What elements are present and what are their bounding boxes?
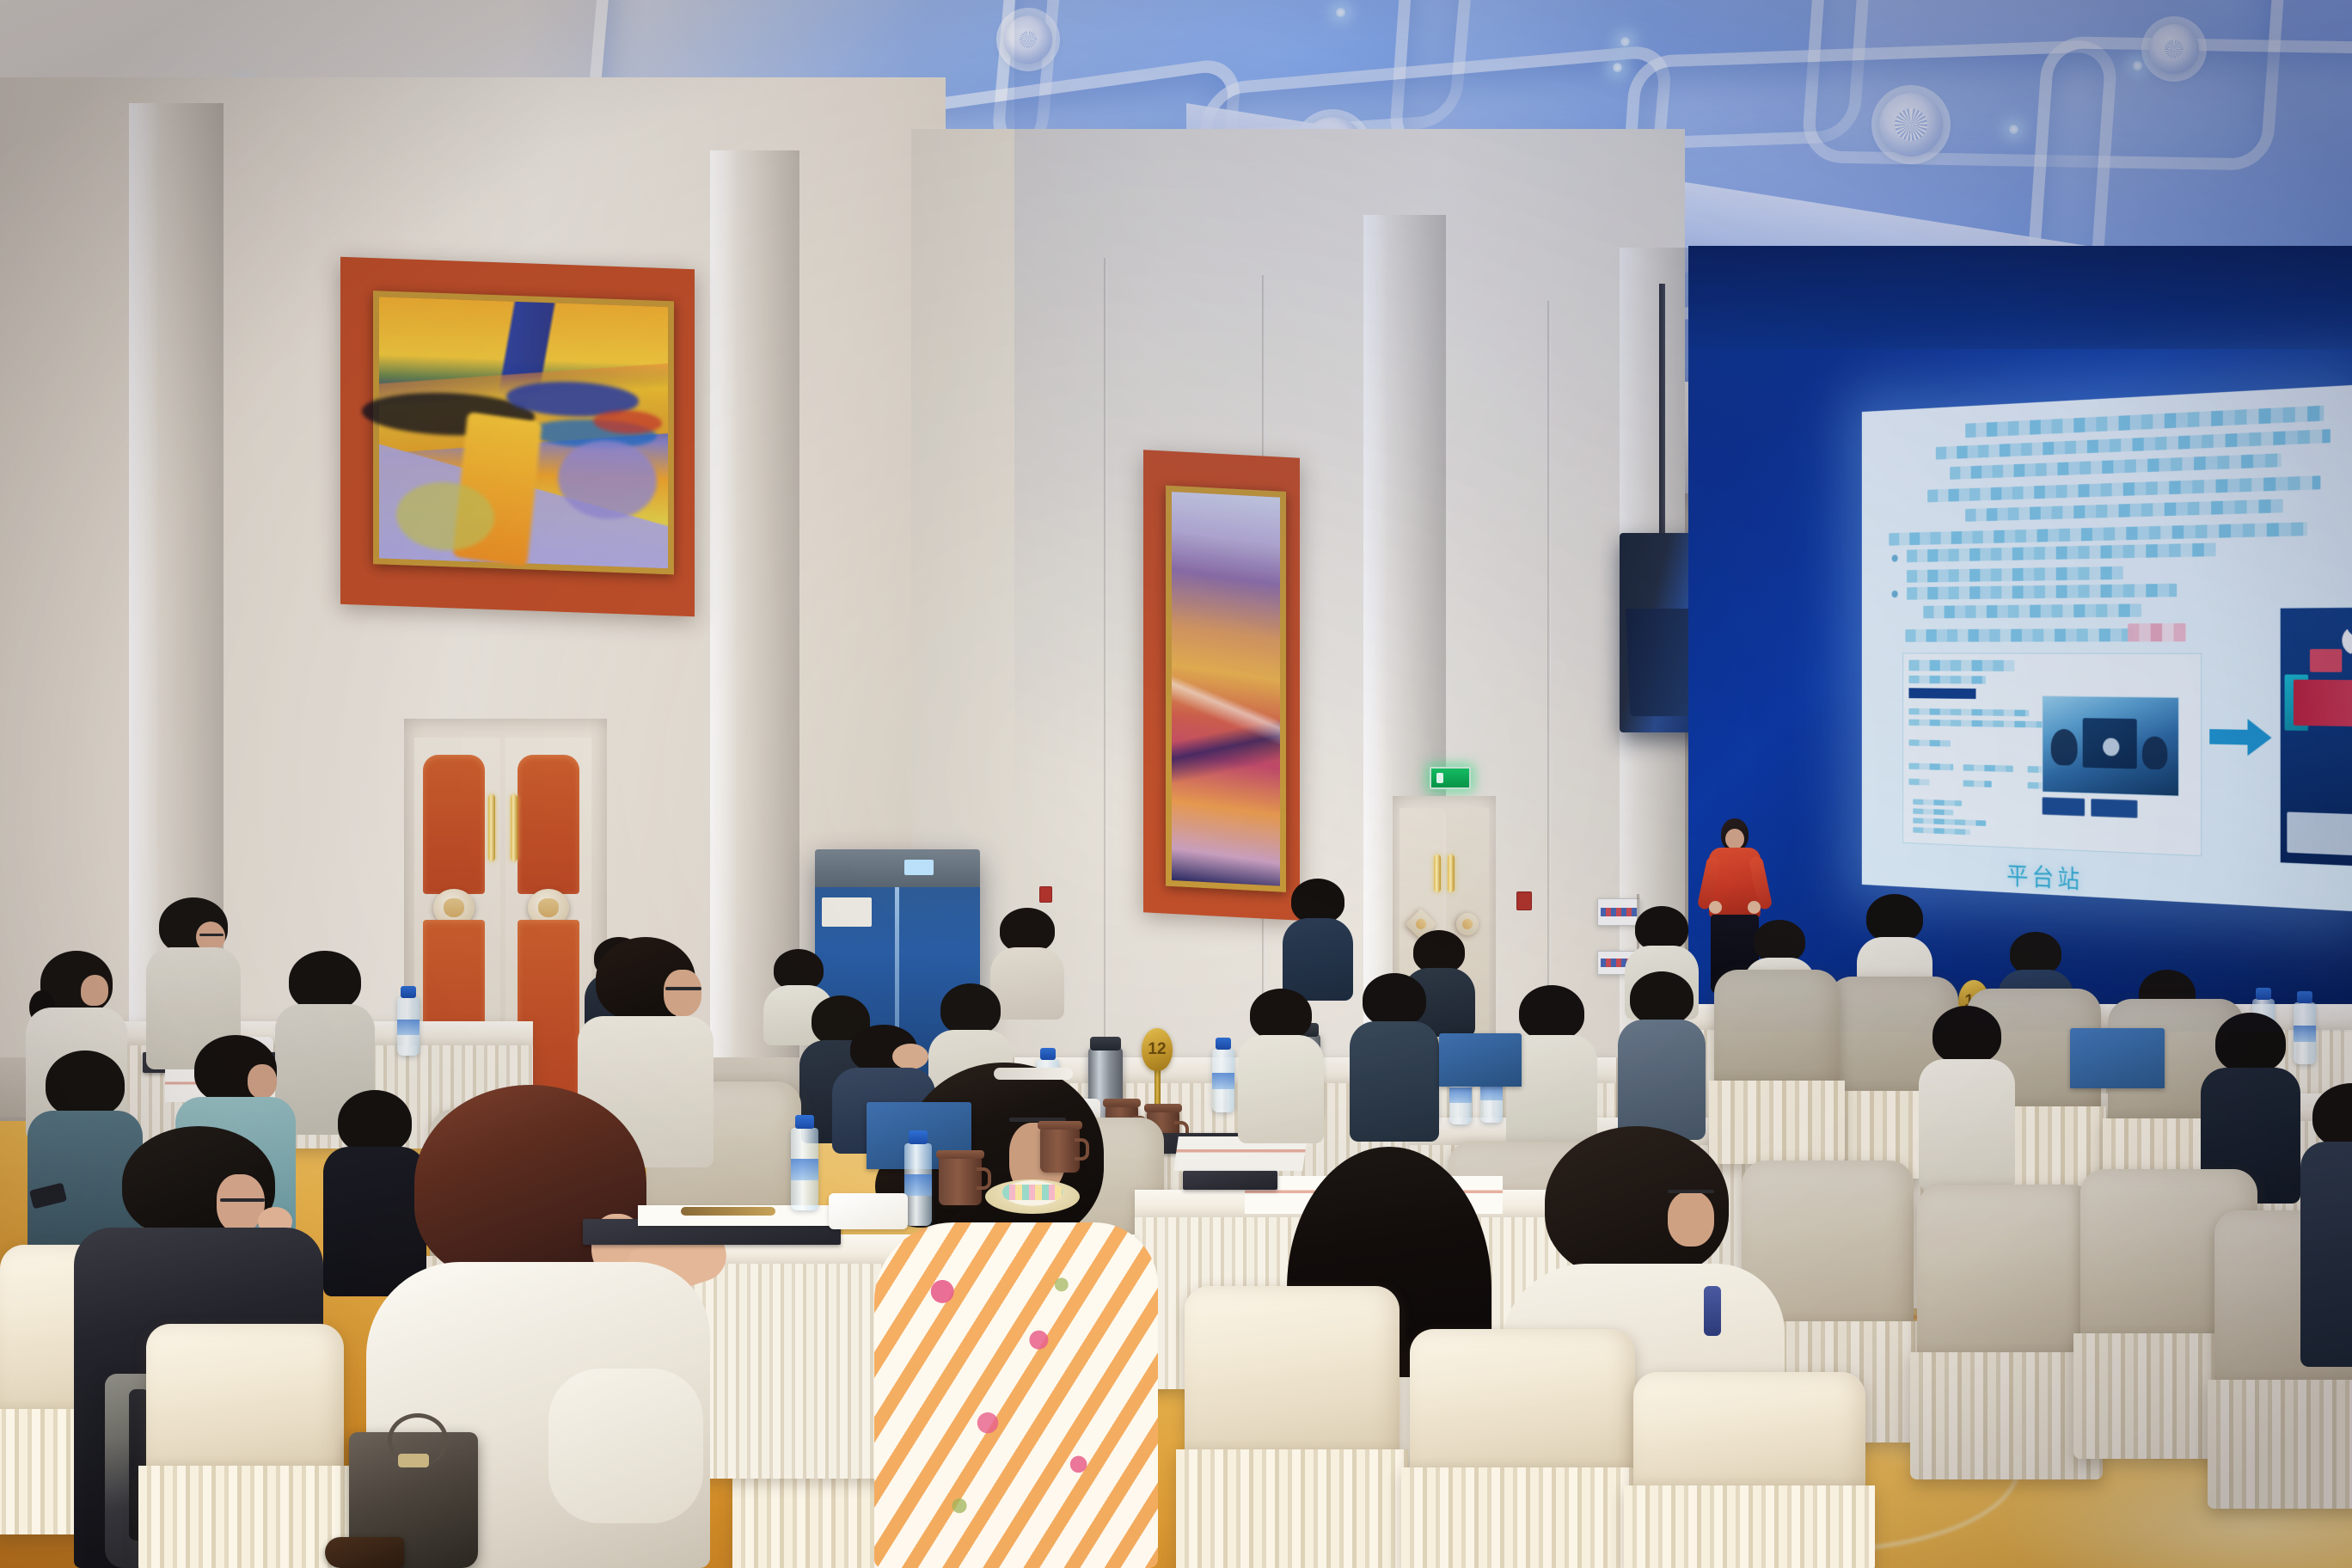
fire-alarm-call-point[interactable]: [1516, 891, 1532, 910]
door-handle[interactable]: [511, 794, 518, 861]
chair-back: [1410, 1329, 1635, 1477]
slide-bullet-marker: [1892, 591, 1898, 597]
tea-mug[interactable]: [1040, 1128, 1080, 1173]
stage-valance: [1688, 246, 2352, 349]
person-torso: [1618, 1020, 1706, 1140]
redacted-text-line: [1905, 628, 2144, 642]
art-accent-panel: [340, 257, 695, 616]
mobile-app-screenshot: [2280, 607, 2352, 868]
person-hair: [2215, 1013, 2286, 1073]
redacted-list-item: [1913, 808, 1953, 815]
projection-screen: 平台站: [1862, 385, 2352, 911]
door-panel-inlay: [423, 755, 485, 894]
bottle-cap: [1040, 1048, 1056, 1060]
ceiling-downlight: [1335, 7, 1346, 18]
person-torso: [1919, 1059, 2015, 1190]
flask-cap: [1090, 1037, 1121, 1050]
photo-person: [2142, 737, 2167, 770]
bottle-cap: [909, 1130, 928, 1144]
laptop-lid: [2070, 1028, 2165, 1088]
laptop-lid: [1439, 1033, 1522, 1087]
cooler-label: [822, 897, 872, 927]
person-floral-blouse: [874, 1222, 1158, 1568]
bottle-cap: [401, 986, 416, 998]
person-hair: [1291, 879, 1344, 923]
water-bottle[interactable]: [904, 1143, 932, 1226]
redacted-text-line: [1950, 453, 2282, 479]
conference-hall-photo: 平台站 12: [0, 0, 2352, 1568]
paint-stroke: [558, 439, 656, 521]
redacted-stat-value: [1908, 779, 1929, 786]
painting-canvas-vertical: [1172, 492, 1280, 886]
app-bottom-card: [2287, 812, 2352, 856]
person-face: [81, 975, 108, 1006]
person-hair: [46, 1050, 125, 1118]
presenter-face: [1725, 829, 1744, 849]
slide-screenshot-card: [1902, 652, 2202, 856]
bottle-cap: [2297, 991, 2312, 1003]
bottle-label: [904, 1174, 932, 1196]
redacted-stat-label: [1908, 763, 1953, 771]
photo-play-indicator: [2103, 738, 2119, 756]
door-handle[interactable]: [488, 794, 495, 861]
fire-alarm-call-point[interactable]: [1039, 886, 1052, 903]
cooler-top-cap: [815, 849, 980, 887]
person-torso: [1350, 1021, 1439, 1142]
water-bottle[interactable]: [1212, 1049, 1234, 1112]
person-hair: [289, 951, 361, 1011]
chair-skirt: [1624, 1485, 1875, 1568]
wall-pilaster-highlight: [710, 150, 736, 1122]
ceiling-downlight: [1620, 36, 1631, 47]
slide-bullet-marker: [1892, 554, 1898, 561]
person-hair: [1250, 989, 1312, 1040]
ceiling-downlight: [2132, 60, 2143, 71]
chair-skirt: [2208, 1380, 2352, 1509]
audience-member: [1618, 971, 1706, 1140]
photo-person: [2051, 729, 2078, 766]
presenter-hand-left: [1709, 901, 1722, 914]
person-hair: [1363, 973, 1426, 1026]
slide-caption: 平台站: [2006, 855, 2083, 895]
pen[interactable]: [681, 1207, 775, 1216]
bottle-label: [1480, 1084, 1503, 1100]
meeting-room-photo: [2043, 695, 2179, 796]
bottle-cap: [2256, 988, 2271, 1000]
wifi-icon: [2343, 626, 2352, 655]
audience-member-edge: [2300, 1083, 2352, 1367]
redacted-bullet-text: [1907, 584, 2177, 600]
person-hair: [1932, 1006, 2001, 1064]
mug-handle: [1075, 1138, 1089, 1161]
chair-back: [1714, 970, 1840, 1088]
person-hair: [940, 983, 1001, 1035]
painting-canvas-landscape: [379, 297, 668, 568]
person-hair: [1754, 920, 1805, 963]
ceiling-rosette: [1004, 15, 1052, 64]
redacted-card-title: [1908, 660, 2014, 671]
redacted-stat-value: [1963, 781, 1992, 787]
person-face: [1668, 1191, 1714, 1246]
ceiling-rosette: [2149, 24, 2199, 74]
app-red-banner: [2294, 680, 2352, 727]
presenter-hand-right: [1748, 901, 1761, 914]
bottle-label: [397, 1020, 420, 1035]
door-handle[interactable]: [1448, 854, 1455, 892]
redacted-card-body: [1908, 739, 1950, 746]
bottle-label: [1449, 1087, 1472, 1103]
candy-pieces: [1002, 1185, 1063, 1200]
audience-member: [1238, 989, 1324, 1143]
audience-member: [1283, 879, 1353, 1001]
table-number-value: 12: [1148, 1040, 1166, 1059]
chair-skirt: [1401, 1467, 1645, 1568]
water-bottle[interactable]: [397, 997, 420, 1056]
chair-back: [146, 1324, 344, 1475]
redacted-stat-label: [1963, 764, 2013, 772]
chair-skirt: [1176, 1449, 1408, 1568]
audience-member: [1350, 973, 1439, 1142]
eyeglasses: [1668, 1190, 1714, 1193]
framed-painting-vertical: [1166, 486, 1286, 892]
folded-napkin: [829, 1193, 908, 1229]
redacted-list-item: [1913, 799, 1962, 805]
shoe: [325, 1537, 404, 1568]
person-hair: [1413, 930, 1465, 973]
person-hair: [1635, 906, 1688, 951]
handbag-clasp: [398, 1454, 429, 1467]
water-bottle[interactable]: [791, 1128, 818, 1210]
redacted-card-body: [1908, 708, 2029, 716]
person-torso: [1238, 1035, 1324, 1143]
open-laptop[interactable]: [2070, 1028, 2165, 1088]
redacted-bullet-text: [1907, 543, 2215, 563]
person-hair: [2312, 1083, 2352, 1148]
audience-member: [1919, 1006, 2015, 1190]
redacted-list-item: [1913, 818, 1986, 826]
redacted-text-line: [1927, 475, 2320, 502]
person-face: [664, 970, 701, 1016]
chair-back: [1917, 1185, 2096, 1363]
person-hair: [1866, 894, 1923, 942]
banquet-chair[interactable]: [1633, 1372, 1865, 1568]
bottle-label: [791, 1159, 818, 1180]
person-sleeve: [548, 1369, 703, 1523]
bottle-cap: [1216, 1038, 1231, 1050]
person-hair: [1519, 985, 1584, 1040]
person-torso: [2300, 1142, 2352, 1367]
banquet-chair[interactable]: [1917, 1185, 2096, 1473]
mug-lid: [936, 1150, 984, 1159]
redacted-text-line: [1889, 522, 2307, 545]
bottle-cap: [795, 1115, 814, 1129]
card-tag-chip: [1908, 688, 1975, 699]
banquet-chair[interactable]: [146, 1324, 344, 1568]
lanyard: [1704, 1286, 1721, 1336]
person-hair: [2010, 932, 2061, 975]
speaker-suspension-rod: [1659, 284, 1665, 542]
mug-lid: [1038, 1121, 1082, 1130]
banquet-chair[interactable]: [1410, 1329, 1635, 1568]
eyeglasses: [199, 934, 224, 936]
hair-clip: [994, 1068, 1073, 1080]
redacted-card-meta: [1908, 676, 1986, 684]
eyeglasses: [665, 987, 701, 990]
person-hair: [774, 949, 824, 990]
exit-sign: [1430, 767, 1471, 789]
redacted-card-body: [1908, 720, 2042, 728]
ceiling-downlight: [1612, 62, 1623, 73]
redacted-list-item: [1913, 827, 1970, 835]
person-hair: [1630, 971, 1694, 1025]
banquet-chair[interactable]: [1185, 1286, 1400, 1568]
person-hair: [1000, 908, 1055, 952]
redacted-bullet-text: [1907, 567, 2123, 583]
slide-button-primary: [2043, 797, 2086, 816]
ceiling-downlight: [2008, 124, 2019, 135]
person-face: [248, 1064, 277, 1099]
bottle-label: [1212, 1073, 1234, 1089]
redacted-bullet-text: [1923, 603, 2141, 618]
app-pink-tag: [2310, 649, 2342, 672]
mug-handle: [977, 1167, 991, 1190]
art-accent-panel: [1143, 450, 1300, 921]
door-panel-inlay: [518, 755, 579, 894]
redacted-text-line: [1965, 499, 2283, 522]
door-handle[interactable]: [1434, 854, 1441, 892]
blue-right-arrow-icon: [2209, 719, 2271, 756]
projected-slide: 平台站: [1862, 385, 2352, 911]
framed-painting-landscape: [373, 291, 674, 574]
eyeglasses: [220, 1198, 265, 1202]
cooler-display-badge: [904, 860, 934, 875]
tea-mug[interactable]: [939, 1157, 982, 1205]
chair-back: [1633, 1372, 1865, 1493]
redacted-highlight: [2128, 623, 2186, 641]
chair-skirt: [138, 1466, 352, 1568]
slide-button-secondary: [2091, 799, 2137, 818]
ceiling-rosette: [1879, 93, 1943, 156]
wall-reveal-line: [1104, 258, 1107, 1109]
chair-back: [1185, 1286, 1400, 1461]
open-laptop[interactable]: [1439, 1033, 1522, 1087]
